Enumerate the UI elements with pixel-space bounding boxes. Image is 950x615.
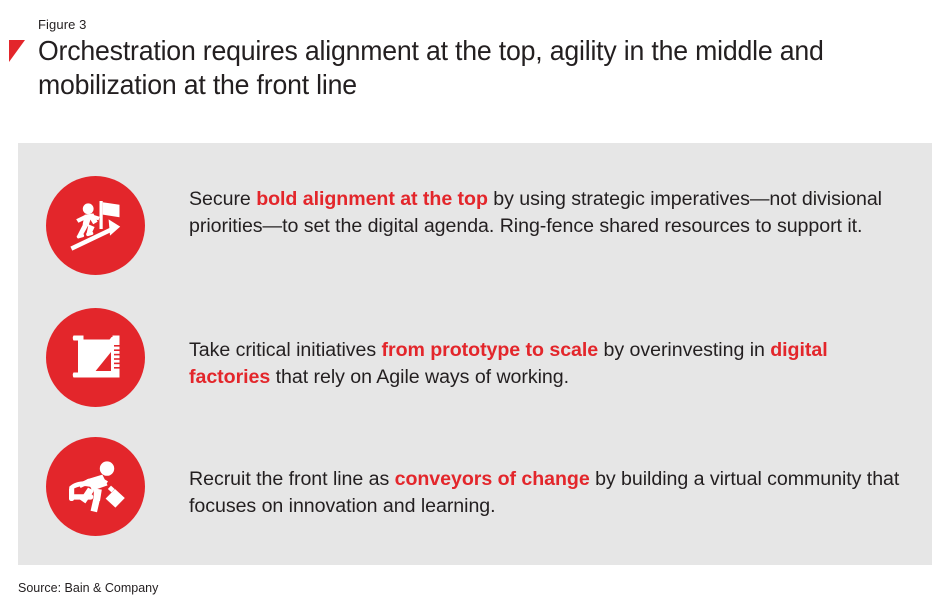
source-note: Source: Bain & Company — [18, 581, 158, 596]
bullet-list: Secure bold alignment at the top by usin… — [18, 143, 932, 565]
body-text-segment: Recruit the front line as — [189, 468, 395, 490]
page-title: Orchestration requires alignment at the … — [38, 34, 918, 102]
content-panel: Secure bold alignment at the top by usin… — [18, 143, 932, 565]
highlighted-phrase: from prototype to scale — [382, 339, 599, 361]
highlighted-phrase: conveyors of change — [395, 468, 590, 490]
body-text-segment: Take critical initiatives — [189, 339, 382, 361]
body-text-segment: that rely on Agile ways of working. — [270, 366, 569, 388]
highlighted-phrase: bold alignment at the top — [256, 188, 488, 210]
list-item-text: Take critical initiatives from prototype… — [189, 337, 904, 390]
body-text-segment: by overinvesting in — [598, 339, 770, 361]
runner-jumping-hurdle-with-briefcase-icon — [46, 437, 145, 536]
red-flag-marker-icon — [9, 40, 25, 62]
blueprint-and-set-square-icon — [46, 308, 145, 407]
figure-label: Figure 3 — [38, 17, 87, 32]
page-title-text: Orchestration requires alignment at the … — [38, 34, 892, 102]
list-item-text: Recruit the front line as conveyors of c… — [189, 466, 904, 519]
list-item-text: Secure bold alignment at the top by usin… — [189, 186, 904, 239]
body-text-segment: Secure — [189, 188, 256, 210]
climber-with-flag-on-arrow-icon — [46, 176, 145, 275]
